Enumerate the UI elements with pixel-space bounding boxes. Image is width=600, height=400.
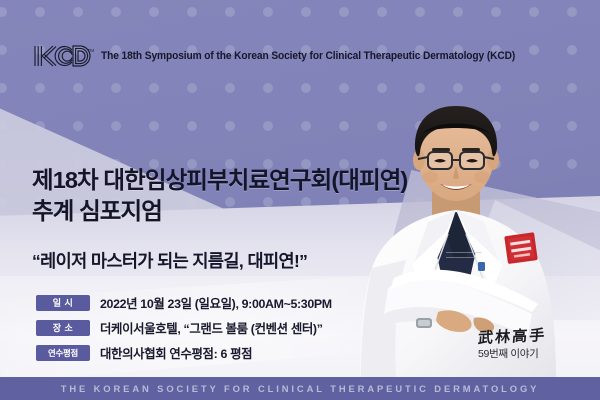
- calligraphy-signature: 武林高手 59번째 이야기: [478, 330, 586, 361]
- footer-text: THE KOREAN SOCIETY FOR CLINICAL THERAPEU…: [61, 383, 540, 394]
- info-value-venue: 더케이서울호텔, “그랜드 볼룸 (컨벤션 센터)”: [100, 319, 323, 337]
- signature-subtitle: 59번째 이야기: [478, 348, 586, 361]
- signature-hanja: 武林高手: [477, 325, 587, 347]
- poster-canvas: TM The 18th Symposium of the Korean Soci…: [0, 0, 600, 400]
- info-label-credits: 연수평점: [36, 345, 90, 361]
- footer-bar: THE KOREAN SOCIETY FOR CLINICAL THERAPEU…: [0, 377, 600, 400]
- info-row-credits: 연수평점 대한의사협회 연수평점: 6 평점: [36, 340, 456, 365]
- info-value-credits: 대한의사협회 연수평점: 6 평점: [100, 344, 252, 362]
- info-value-date: 2022년 10월 23일 (일요일), 9:00AM~5:30PM: [100, 294, 332, 312]
- headline-line-2: 추계 심포지엄: [32, 196, 452, 227]
- header-title: The 18th Symposium of the Korean Society…: [101, 50, 515, 62]
- svg-text:TM: TM: [88, 48, 95, 53]
- slogan-text: “레이저 마스터가 되는 지름길, 대피연!”: [32, 248, 462, 273]
- headline-line-1: 제18차 대한임상피부치료연구회(대피연): [32, 167, 407, 193]
- info-row-date: 일 시 2022년 10월 23일 (일요일), 9:00AM~5:30PM: [36, 290, 456, 315]
- poster-header: TM The 18th Symposium of the Korean Soci…: [0, 36, 600, 76]
- kcd-logo-icon: TM: [32, 43, 94, 69]
- info-list: 일 시 2022년 10월 23일 (일요일), 9:00AM~5:30PM 장…: [36, 290, 456, 365]
- info-row-venue: 장 소 더케이서울호텔, “그랜드 볼룸 (컨벤션 센터)”: [36, 315, 456, 340]
- info-label-venue: 장 소: [36, 320, 90, 336]
- info-label-date: 일 시: [36, 295, 90, 311]
- page-title: 제18차 대한임상피부치료연구회(대피연) 추계 심포지엄: [32, 165, 452, 227]
